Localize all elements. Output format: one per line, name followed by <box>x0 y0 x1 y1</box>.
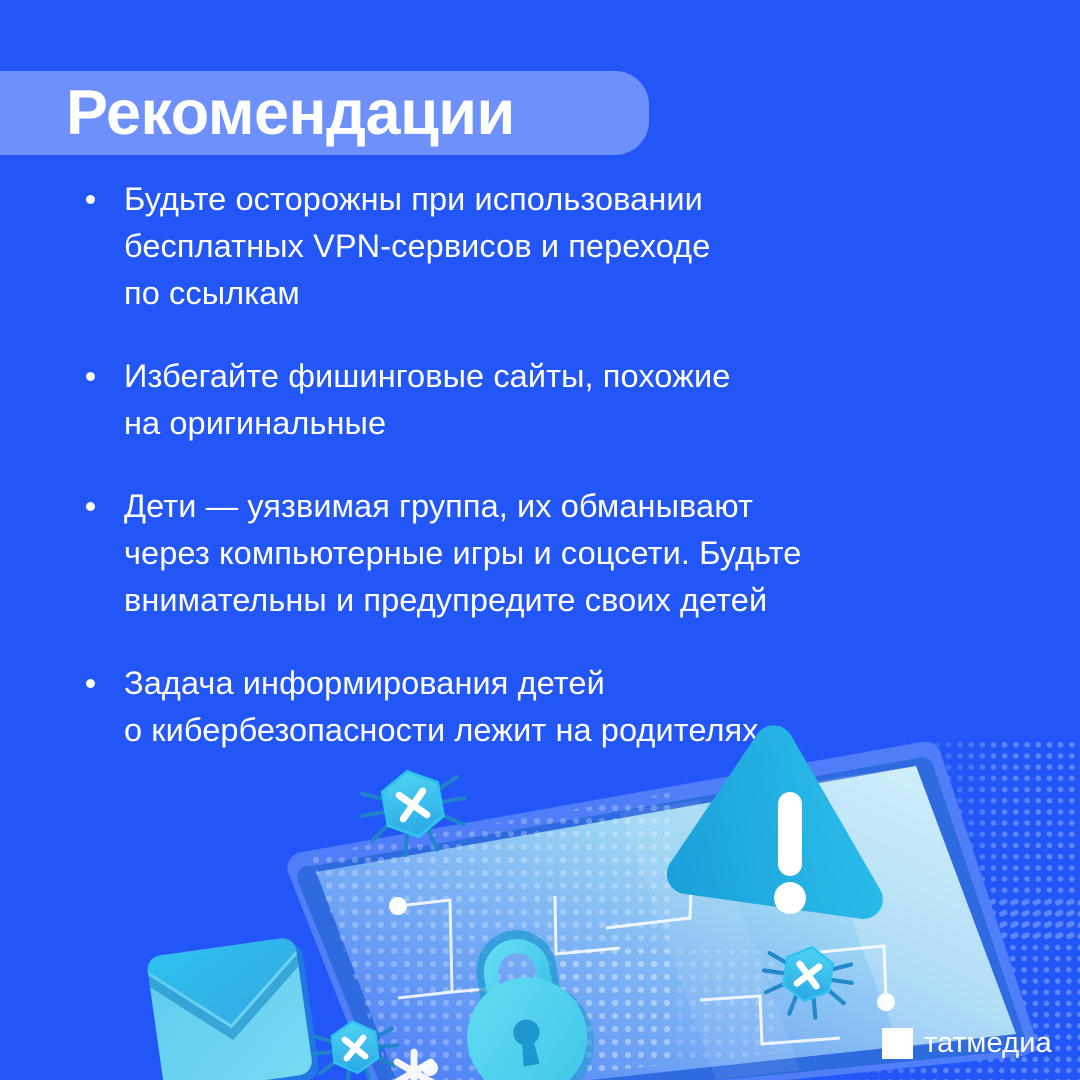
envelope-icon <box>146 936 321 1080</box>
list-item: Дети — уязвимая группа, их обманывают че… <box>86 483 1016 624</box>
page-title: Рекомендации <box>66 68 706 158</box>
list-item: Избегайте фишинговые сайты, похожие на о… <box>86 353 1016 447</box>
bullet-dot-icon <box>86 679 95 688</box>
recommendations-list: Будьте осторожны при использовании беспл… <box>86 176 1016 790</box>
poster-canvas: Рекомендации Будьте осторожны при исполь… <box>0 0 1080 1080</box>
bullet-dot-icon <box>86 372 95 381</box>
brand-name: татмедиа <box>924 1028 1052 1059</box>
list-item-text: Дети — уязвимая группа, их обманывают че… <box>124 483 1016 624</box>
brand-logo: татмедиа <box>882 1020 1052 1066</box>
bullet-dot-icon <box>86 502 95 511</box>
list-item-text: Избегайте фишинговые сайты, похожие на о… <box>124 353 1016 447</box>
list-item-text: Будьте осторожны при использовании беспл… <box>124 176 1016 317</box>
bullet-dot-icon <box>86 195 95 204</box>
list-item: Будьте осторожны при использовании беспл… <box>86 176 1016 317</box>
brand-square-mark-icon <box>882 1028 913 1059</box>
